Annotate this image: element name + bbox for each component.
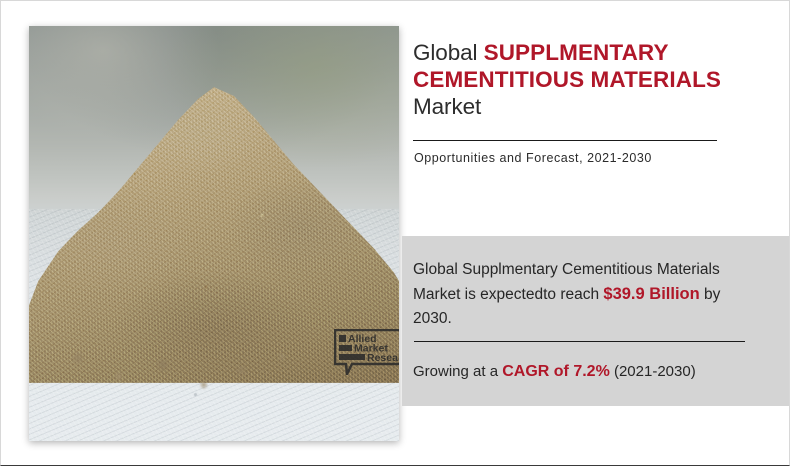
subtitle: Opportunities and Forecast, 2021-2030 (414, 151, 652, 165)
page-title: Global SUPPLMENTARY CEMENTITIOUS MATERIA… (413, 39, 753, 120)
title-line-2: CEMENTITIOUS MATERIALS (413, 66, 753, 93)
allied-market-research-logo: Allied Market Research (334, 329, 399, 375)
title-divider (413, 140, 717, 141)
stats-divider (414, 341, 745, 342)
title-line-1: Global SUPPLMENTARY (413, 39, 753, 66)
market-value-figure: $39.9 Billion (603, 285, 699, 303)
cagr-statement: Growing at a CAGR of 7.2% (2021-2030) (413, 363, 696, 381)
infographic-card: Allied Market Research Global SUPPLMENTA… (0, 0, 790, 466)
title-word-supplmentary: SUPPLMENTARY (484, 40, 669, 65)
logo-text-line3: Research (367, 352, 399, 364)
cagr-figure: CAGR of 7.2% (502, 363, 610, 380)
cagr-text-pre: Growing at a (413, 363, 502, 380)
title-word-global: Global (413, 40, 484, 65)
stats-panel: Global Supplmentary Cementitious Materia… (402, 236, 790, 406)
title-line-3: Market (413, 93, 753, 120)
market-value-statement: Global Supplmentary Cementitious Materia… (413, 258, 763, 331)
cagr-text-post: (2021-2030) (610, 363, 696, 380)
product-photo: Allied Market Research (29, 26, 399, 441)
title-word-cementitious-materials: CEMENTITIOUS MATERIALS (413, 67, 721, 92)
